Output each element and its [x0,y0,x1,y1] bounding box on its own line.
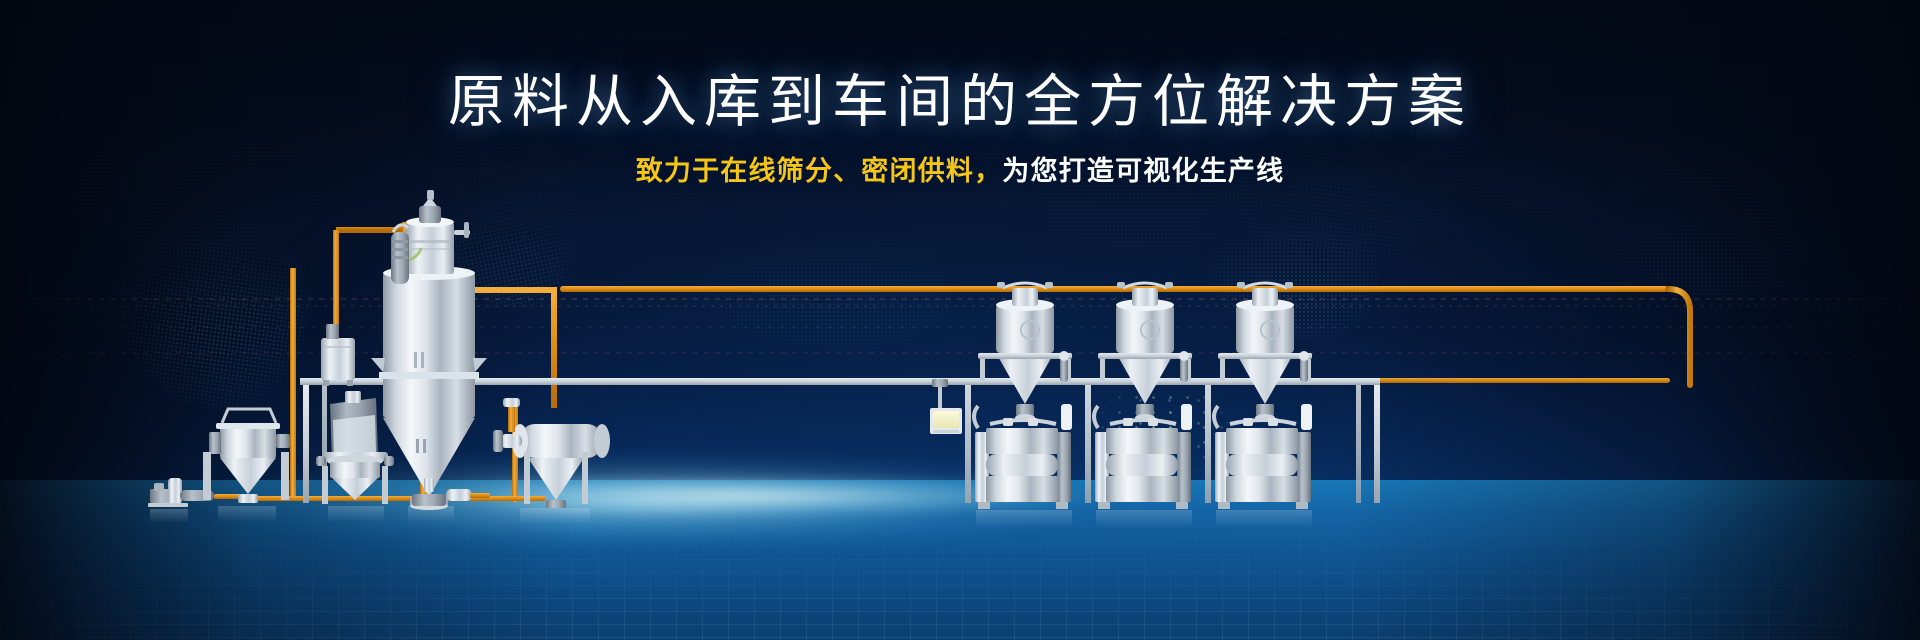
mixer-1 [974,404,1072,528]
control-terminal[interactable] [930,379,962,434]
page-subtitle: 致力于在线筛分、密闭供料，为您打造可视化生产线 [0,158,1920,185]
page-title: 原料从入库到车间的全方位解决方案 [0,74,1920,131]
mixer-3 [1214,404,1312,528]
vibrating-sifter [316,391,394,522]
receiver-hopper-3 [1218,282,1312,422]
dust-collector-cabinet [321,324,355,386]
bag-dump-hopper [203,409,290,522]
hero-banner: 原料从入库到车间的全方位解决方案 致力于在线筛分、密闭供料，为您打造可视化生产线 [0,0,1920,640]
receiver-hopper-1 [978,282,1072,422]
receiver-hopper-2 [1098,282,1192,422]
subtitle-accent-text: 致力于在线筛分、密闭供料， [636,156,1003,186]
banner-copy: 原料从入库到车间的全方位解决方案 致力于在线筛分、密闭供料，为您打造可视化生产线 [0,74,1920,185]
subtitle-plain-text: 为您打造可视化生产线 [1002,156,1284,186]
mixer-2 [1094,404,1192,528]
inline-screener [493,398,610,524]
